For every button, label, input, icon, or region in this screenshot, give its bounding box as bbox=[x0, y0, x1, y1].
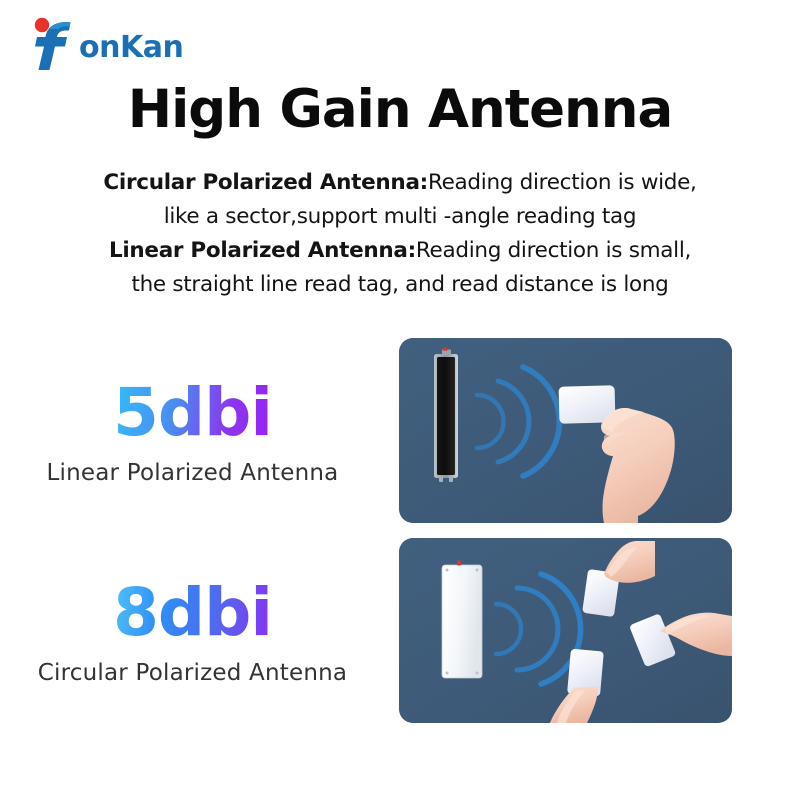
linear-antenna-panel bbox=[434, 348, 458, 483]
description-block: Circular Polarized Antenna:Reading direc… bbox=[50, 166, 750, 302]
linear-antenna-photo bbox=[399, 338, 732, 523]
linear-label: Linear Polarized Antenna: bbox=[109, 238, 416, 263]
page-title: High Gain Antenna bbox=[0, 82, 800, 138]
description-circular-line1: Circular Polarized Antenna:Reading direc… bbox=[50, 166, 750, 200]
circular-label: Circular Polarized Antenna: bbox=[103, 170, 428, 195]
product-row-circular: 8dbi Circular Polarized Antenna bbox=[0, 537, 800, 729]
circular-label-column: 8dbi Circular Polarized Antenna bbox=[0, 537, 385, 729]
linear-text: Reading direction is small, bbox=[416, 238, 691, 263]
linear-gain-caption: Linear Polarized Antenna bbox=[47, 460, 339, 486]
circular-antenna-panel bbox=[442, 561, 482, 679]
linear-label-column: 5dbi Linear Polarized Antenna bbox=[0, 337, 385, 529]
circular-text: Reading direction is wide, bbox=[428, 170, 697, 195]
circular-gain-value: 8dbi bbox=[113, 580, 272, 646]
brand-name: onKan bbox=[79, 33, 183, 63]
circular-gain-caption: Circular Polarized Antenna bbox=[38, 660, 347, 686]
fonkan-f-logo-icon bbox=[22, 14, 80, 72]
circular-antenna-photo bbox=[399, 538, 732, 723]
linear-gain-value: 5dbi bbox=[113, 380, 272, 446]
description-linear-line1: Linear Polarized Antenna:Reading directi… bbox=[50, 234, 750, 268]
product-row-linear: 5dbi Linear Polarized Antenna bbox=[0, 337, 800, 529]
description-linear-line2: the straight line read tag, and read dis… bbox=[50, 268, 750, 302]
brand-logo: onKan bbox=[22, 14, 252, 76]
description-circular-line2: like a sector,support multi -angle readi… bbox=[50, 200, 750, 234]
